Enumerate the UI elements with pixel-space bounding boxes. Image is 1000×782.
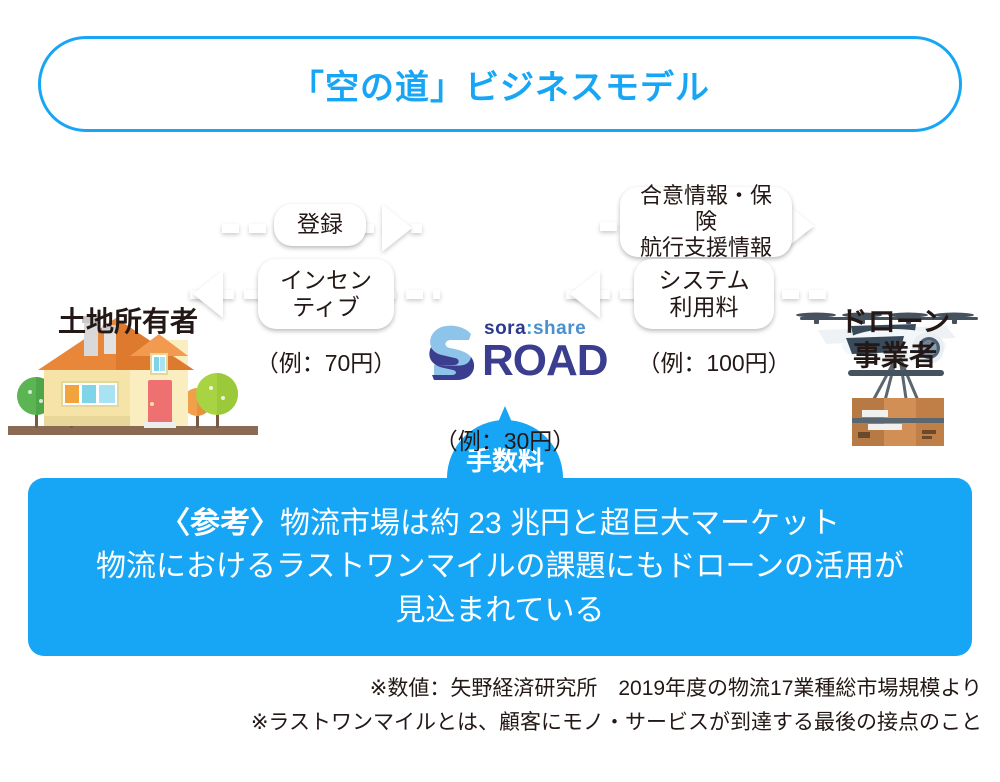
right-entity-label-line2: 事業者 bbox=[853, 340, 937, 371]
commission-note: （例：30円） bbox=[405, 422, 605, 456]
flow-label-registration-text: 登録 bbox=[297, 211, 343, 238]
banner-line3: 見込まれている bbox=[395, 589, 604, 633]
page-title-banner: 「空の道」ビジネスモデル bbox=[38, 36, 962, 132]
reference-banner: 〈参考〉物流市場は約 23 兆円と超巨大マーケット 物流におけるラストワンマイル… bbox=[28, 478, 972, 656]
banner-line2: 物流におけるラストワンマイルの課題にもドローンの活用が bbox=[96, 545, 904, 589]
flow-arrow-incentive bbox=[193, 270, 223, 318]
flow-label-agreement-info-line2: 航行支援情報 bbox=[640, 235, 772, 261]
flow-label-system-fee-line1: システム bbox=[658, 267, 749, 294]
right-entity-label-line1: ドローン bbox=[840, 306, 951, 337]
flow-label-registration: 登録 bbox=[274, 204, 366, 246]
footnote-2: ※ラストワンマイルとは、顧客にモノ・サービスが到達する最後の接点のこと bbox=[0, 706, 1000, 740]
system-fee-note: （例：100円） bbox=[624, 344, 804, 378]
flow-label-agreement-info: 合意情報・保険 航行支援情報 bbox=[620, 187, 792, 257]
flow-label-incentive: インセン ティブ bbox=[258, 259, 394, 329]
flow-label-incentive-line1: インセン bbox=[280, 267, 372, 294]
flow-label-system-fee-line2: 利用料 bbox=[670, 294, 739, 321]
banner-line1-rest: 物流市場は約 23 兆円と超巨大マーケット bbox=[280, 507, 840, 540]
flow-label-agreement-info-line1: 合意情報・保険 bbox=[630, 183, 782, 235]
flow-arrow-system-fee bbox=[570, 270, 600, 318]
page-title: 「空の道」ビジネスモデル bbox=[290, 60, 710, 109]
logo-wordmark: ROAD bbox=[482, 336, 608, 386]
footnote-1: ※数値：矢野経済研究所 2019年度の物流17業種総市場規模より bbox=[0, 672, 1000, 706]
right-entity-label: ドローン 事業者 bbox=[800, 305, 990, 372]
incentive-note: （例：70円） bbox=[246, 344, 406, 378]
flow-label-incentive-line2: ティブ bbox=[292, 294, 360, 321]
flow-arrow-registration bbox=[382, 204, 412, 252]
soraroad-logo: sora:share ROAD bbox=[424, 318, 614, 392]
flow-label-system-fee: システム 利用料 bbox=[634, 259, 774, 329]
banner-line1-bold: 〈参考〉 bbox=[160, 507, 280, 540]
footnotes: ※数値：矢野経済研究所 2019年度の物流17業種総市場規模より ※ラストワンマ… bbox=[0, 672, 1000, 739]
banner-line1: 〈参考〉物流市場は約 23 兆円と超巨大マーケット bbox=[160, 502, 840, 546]
business-model-diagram: 土地所有者 bbox=[0, 140, 1000, 450]
logo-s-mark-icon bbox=[424, 322, 480, 384]
